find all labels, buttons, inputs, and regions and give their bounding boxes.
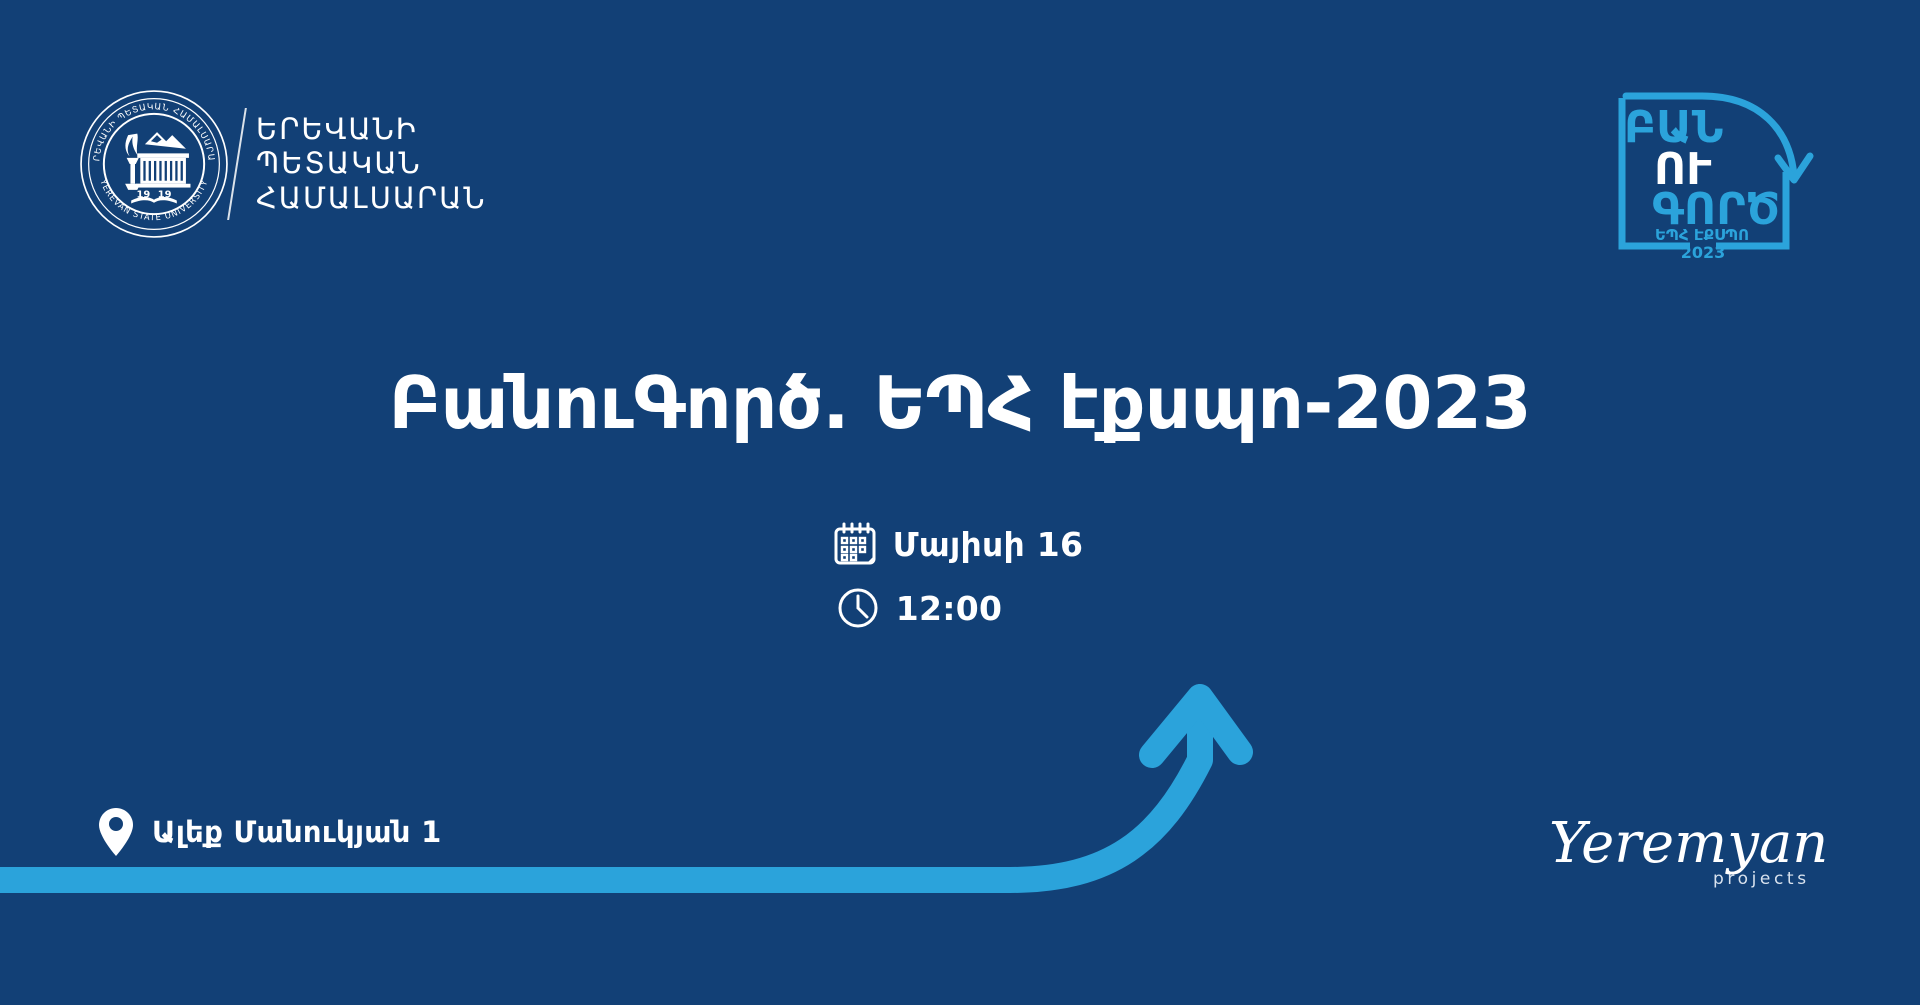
expo-logo-subtitle: ԵՊՀ ԷՔՍՊՈ bbox=[1655, 226, 1749, 244]
logo-divider bbox=[227, 108, 247, 220]
map-pin-icon bbox=[96, 806, 136, 858]
sponsor-subtitle: projects bbox=[1713, 869, 1810, 889]
calendar-icon bbox=[831, 520, 879, 568]
ysu-name-line-1: ԵՐԵՎԱՆԻ bbox=[256, 114, 487, 145]
event-date: Մայիսի 16 bbox=[893, 525, 1084, 564]
event-time: 12:00 bbox=[896, 589, 1003, 628]
event-poster: ԵՐԵՎԱՆԻ ՊԵՏԱԿԱՆ ՀԱՄԱԼՍԱՐԱՆ YEREVAN STATE… bbox=[0, 0, 1920, 1005]
expo-logo-year: 2023 bbox=[1681, 243, 1726, 260]
ysu-logo-lockup: ԵՐԵՎԱՆԻ ՊԵՏԱԿԱՆ ՀԱՄԱԼՍԱՐԱՆ YEREVAN STATE… bbox=[78, 88, 487, 240]
detail-row-date: Մայիսի 16 bbox=[831, 520, 1084, 568]
clock-icon bbox=[834, 584, 882, 632]
event-address: Ալեք Մանուկյան 1 bbox=[96, 806, 442, 858]
banugorts-expo-logo: ԲԱՆ ՈՒ ԳՈՐԾ ԵՊՀ ԷՔՍՊՈ 2023 bbox=[1610, 80, 1840, 260]
detail-row-time: 12:00 bbox=[834, 584, 1003, 632]
sponsor-wordmark: Yeremyan bbox=[1549, 811, 1828, 876]
address-label: Ալեք Մանուկյան 1 bbox=[152, 815, 442, 849]
ysu-name-line-3: ՀԱՄԱԼՍԱՐԱՆ bbox=[256, 183, 487, 214]
yeremyan-projects-logo: Yeremyan projects bbox=[1545, 800, 1835, 895]
event-details: Մայիսի 16 12:00 bbox=[0, 520, 1920, 632]
ysu-seal-icon: ԵՐԵՎԱՆԻ ՊԵՏԱԿԱՆ ՀԱՄԱԼՍԱՐԱՆ YEREVAN STATE… bbox=[78, 88, 230, 240]
ysu-name-block: ԵՐԵՎԱՆԻ ՊԵՏԱԿԱՆ ՀԱՄԱԼՍԱՐԱՆ bbox=[256, 114, 487, 214]
svg-text:19: 19 bbox=[136, 189, 150, 200]
svg-text:19: 19 bbox=[158, 189, 172, 200]
ysu-name-line-2: ՊԵՏԱԿԱՆ bbox=[256, 148, 487, 179]
event-title: ԲանուԳործ. ԵՊՀ էքսպո-2023 bbox=[0, 364, 1920, 443]
